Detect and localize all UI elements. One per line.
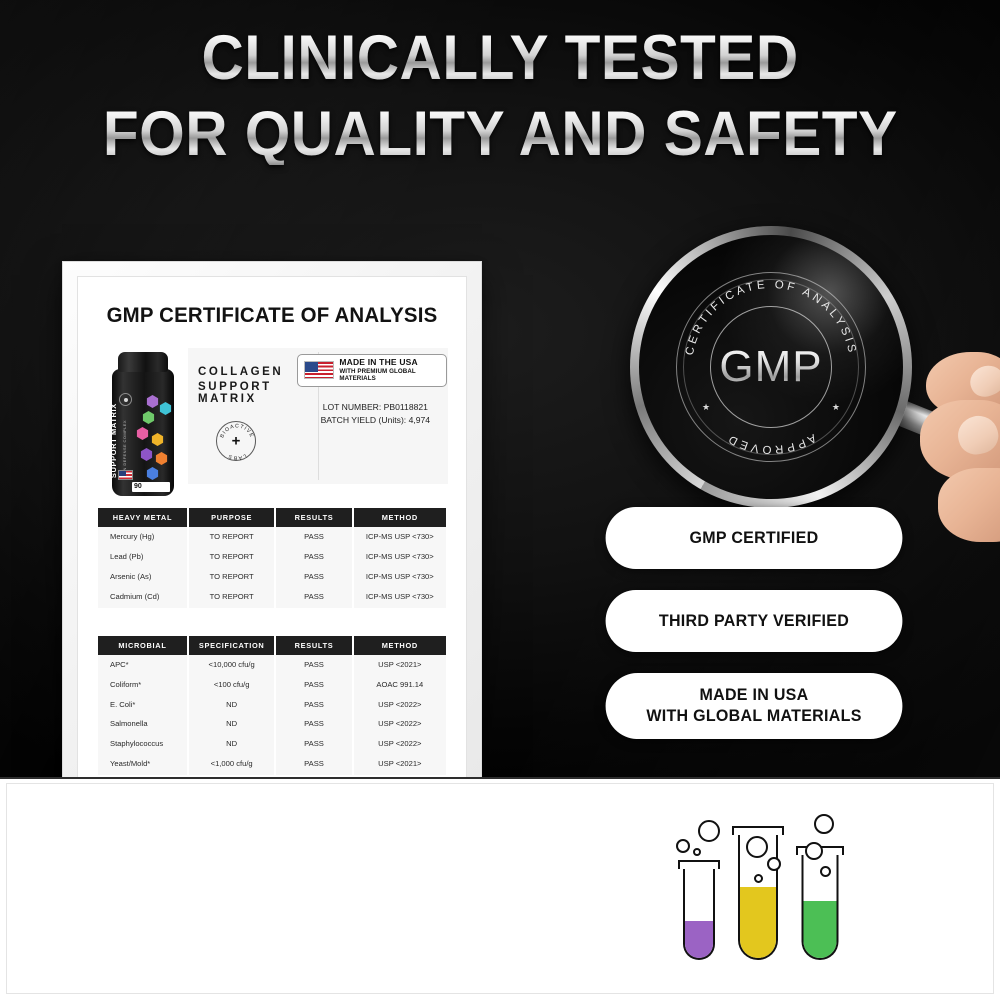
headline-line-2: FOR QUALITY AND SAFETY — [103, 104, 898, 166]
column-header-2: RESULTS — [276, 636, 351, 655]
bubble-yellow-1 — [746, 836, 768, 858]
table-cell: USP <2021> — [354, 754, 446, 775]
bottle-usa-flag-icon — [118, 470, 133, 480]
table-row: Lead (Pb)TO REPORTPASSICP-MS USP <730> — [98, 547, 446, 567]
table-cell: USP <2022> — [354, 714, 446, 734]
product-bottle-image: COLLAGEN SUPPORT MATRIX SKIN DEFENSE COM… — [96, 340, 188, 500]
certificate-title: GMP CERTIFICATE OF ANALYSIS — [105, 303, 439, 328]
hex-saw-palmetto — [136, 427, 149, 440]
badge-third-party-verified-label: THIRD PARTY VERIFIED — [659, 612, 849, 631]
badge-made-in-usa[interactable]: MADE IN USA WITH GLOBAL MATERIALS — [606, 673, 903, 739]
table-cell: PASS — [276, 567, 351, 587]
table-cell: USP <2022> — [354, 694, 446, 714]
table-cell: Lead (Pb) — [98, 547, 187, 567]
bubble-yellow-3 — [754, 874, 763, 883]
magnifier-ring: CERTIFICATE OF ANALYSIS APPROVED ★ ★ GMP — [630, 226, 912, 508]
tube-neck-yellow — [732, 826, 784, 835]
table-cell: <10,000 cfu/g — [189, 655, 275, 675]
hex-vitamin-e — [140, 448, 153, 461]
table-cell: TO REPORT — [189, 586, 275, 607]
heavy-metal-table: HEAVY METALPURPOSERESULTSMETHOD Mercury … — [96, 508, 448, 608]
table-cell: Arsenic (As) — [98, 567, 187, 587]
promo-graphic: CLINICALLY TESTED FOR QUALITY AND SAFETY… — [0, 0, 1000, 1000]
hex-vitamin-d — [155, 452, 168, 465]
badge-made-in-usa-line-2: WITH GLOBAL MATERIALS — [646, 706, 861, 727]
table-cell: ICP-MS USP <730> — [354, 567, 446, 587]
table-row: Coliform*<100 cfu/gPASSAOAC 991.14 — [98, 675, 446, 695]
table-header-row: HEAVY METALPURPOSERESULTSMETHOD — [98, 508, 446, 527]
bubble-green-2 — [805, 842, 823, 860]
hex-collagen — [146, 395, 159, 408]
column-header-2: RESULTS — [276, 508, 351, 527]
tube-neck-purple — [678, 860, 720, 869]
hex-vitamin-c — [151, 433, 164, 446]
svg-text:APPROVED: APPROVED — [724, 431, 818, 455]
table-cell: USP <2022> — [354, 734, 446, 754]
headline: CLINICALLY TESTED FOR QUALITY AND SAFETY — [0, 28, 1000, 165]
product-name-block: COLLAGEN SUPPORT MATRIX BIOACTIVE LABS + — [188, 340, 283, 461]
lot-info: LOT NUMBER: PB0118821 BATCH YIELD (Units… — [297, 401, 453, 428]
ingredient-hex-grid — [136, 395, 174, 483]
table-row: Mercury (Hg)TO REPORTPASSICP-MS USP <730… — [98, 527, 446, 547]
table-cell: TO REPORT — [189, 527, 275, 547]
made-in-usa-badge: MADE IN THE USA WITH PREMIUM GLOBAL MATE… — [297, 354, 447, 387]
usa-flag-icon — [304, 361, 334, 379]
seal-star-left: ★ — [702, 402, 710, 413]
table-row: Yeast/Mold*<1,000 cfu/gPASSUSP <2021> — [98, 754, 446, 775]
table-cell: PASS — [276, 714, 351, 734]
hex-hyaluronic-acid — [142, 411, 155, 424]
table-cell: Mercury (Hg) — [98, 527, 187, 547]
finger-ring — [938, 468, 1000, 542]
made-in-usa-line-2: WITH PREMIUM GLOBAL MATERIALS — [339, 368, 440, 383]
test-tubes-illustration — [668, 812, 848, 960]
bottle-cap — [118, 352, 168, 372]
made-in-usa-line-1: MADE IN THE USA — [339, 358, 440, 368]
table-cell: ND — [189, 694, 275, 714]
seal-star-right: ★ — [832, 402, 840, 413]
table-cell: ICP-MS USP <730> — [354, 527, 446, 547]
bubble-green-3 — [820, 866, 831, 877]
tube-liquid-purple — [685, 921, 713, 958]
bioactive-labs-logo: BIOACTIVE LABS + — [216, 421, 256, 461]
table-cell: Staphylococcus — [98, 734, 187, 754]
table-cell: USP <2021> — [354, 655, 446, 675]
tube-liquid-yellow — [740, 887, 776, 958]
table-cell: E. Coli* — [98, 694, 187, 714]
badge-gmp-certified-label: GMP CERTIFIED — [690, 529, 819, 548]
tube-liquid-green — [804, 901, 837, 958]
hand-holding-magnifier — [918, 352, 1000, 542]
table-cell: AOAC 991.14 — [354, 675, 446, 695]
table-cell: Cadmium (Cd) — [98, 586, 187, 607]
column-header-0: MICROBIAL — [98, 636, 187, 655]
bottle-capsule-count: 90 — [132, 482, 170, 492]
table-cell: ND — [189, 714, 275, 734]
table-header-row: MICROBIALSPECIFICATIONRESULTSMETHOD — [98, 636, 446, 655]
badge-gmp-certified[interactable]: GMP CERTIFIED — [606, 507, 903, 569]
headline-line-1: CLINICALLY TESTED — [201, 28, 798, 90]
table-cell: PASS — [276, 655, 351, 675]
hex-biotin — [159, 402, 172, 415]
bioactive-plus-icon: + — [230, 435, 243, 448]
table-row: Arsenic (As)TO REPORTPASSICP-MS USP <730… — [98, 567, 446, 587]
bubble-purple-2 — [676, 839, 690, 853]
badge-made-in-usa-line-1: MADE IN USA — [646, 685, 861, 706]
column-header-1: SPECIFICATION — [189, 636, 275, 655]
test-tube-purple — [678, 860, 720, 960]
column-header-3: METHOD — [354, 508, 446, 527]
table-cell: APC* — [98, 655, 187, 675]
seal-center-text: GMP — [676, 342, 866, 392]
bottle-body: COLLAGEN SUPPORT MATRIX SKIN DEFENSE COM… — [112, 369, 174, 496]
table-cell: PASS — [276, 754, 351, 775]
column-header-0: HEAVY METAL — [98, 508, 187, 527]
table-row: SalmonellaNDPASSUSP <2022> — [98, 714, 446, 734]
table-cell: Salmonella — [98, 714, 187, 734]
hex-folate — [146, 467, 159, 480]
feature-badges: GMP CERTIFIED THIRD PARTY VERIFIED MADE … — [601, 507, 907, 739]
badge-third-party-verified[interactable]: THIRD PARTY VERIFIED — [606, 590, 903, 652]
product-info-row: COLLAGEN SUPPORT MATRIX SKIN DEFENSE COM… — [96, 340, 448, 500]
bubble-purple-1 — [698, 820, 720, 842]
lot-number: LOT NUMBER: PB0118821 — [297, 401, 453, 414]
microbial-table: MICROBIALSPECIFICATIONRESULTSMETHOD APC*… — [96, 636, 448, 775]
table-cell: <1,000 cfu/g — [189, 754, 275, 775]
table-row: E. Coli*NDPASSUSP <2022> — [98, 694, 446, 714]
table-cell: <100 cfu/g — [189, 675, 275, 695]
table-cell: ICP-MS USP <730> — [354, 547, 446, 567]
svg-text:LABS: LABS — [227, 452, 247, 460]
origin-and-lot-block: MADE IN THE USA WITH PREMIUM GLOBAL MATE… — [283, 340, 453, 427]
magnifier-lens: CERTIFICATE OF ANALYSIS APPROVED ★ ★ GMP — [639, 235, 903, 499]
table-row: APC*<10,000 cfu/gPASSUSP <2021> — [98, 655, 446, 675]
column-header-1: PURPOSE — [189, 508, 275, 527]
brand-name-line-1: COLLAGEN — [198, 366, 283, 378]
table-spacer — [96, 608, 448, 628]
table-cell: PASS — [276, 675, 351, 695]
table-cell: ICP-MS USP <730> — [354, 586, 446, 607]
table-cell: PASS — [276, 734, 351, 754]
batch-yield: BATCH YIELD (Units): 4,974 — [297, 414, 453, 427]
table-cell: ND — [189, 734, 275, 754]
tube-body-purple — [683, 869, 715, 960]
gmp-seal-emblem: CERTIFICATE OF ANALYSIS APPROVED ★ ★ GMP — [676, 272, 866, 462]
table-cell: TO REPORT — [189, 547, 275, 567]
table-cell: Yeast/Mold* — [98, 754, 187, 775]
column-header-3: METHOD — [354, 636, 446, 655]
bottle-label-sub: SUPPORT MATRIX — [109, 403, 118, 478]
bottle-label-main: COLLAGEN — [100, 431, 109, 478]
bubble-yellow-2 — [767, 857, 781, 871]
table-cell: TO REPORT — [189, 567, 275, 587]
table-cell: PASS — [276, 527, 351, 547]
table-cell: Coliform* — [98, 675, 187, 695]
bubble-purple-3 — [693, 848, 701, 856]
test-tube-green — [796, 846, 844, 960]
magnifying-glass: CERTIFICATE OF ANALYSIS APPROVED ★ ★ GMP — [630, 226, 930, 526]
table-row: StaphylococcusNDPASSUSP <2022> — [98, 734, 446, 754]
table-cell: PASS — [276, 694, 351, 714]
table-cell: PASS — [276, 586, 351, 607]
bubble-green-1 — [814, 814, 834, 834]
table-row: Cadmium (Cd)TO REPORTPASSICP-MS USP <730… — [98, 586, 446, 607]
brand-name-line-2: SUPPORT MATRIX — [198, 381, 283, 405]
table-cell: PASS — [276, 547, 351, 567]
bottle-vertical-label: COLLAGEN SUPPORT MATRIX SKIN DEFENSE COM… — [100, 390, 128, 478]
